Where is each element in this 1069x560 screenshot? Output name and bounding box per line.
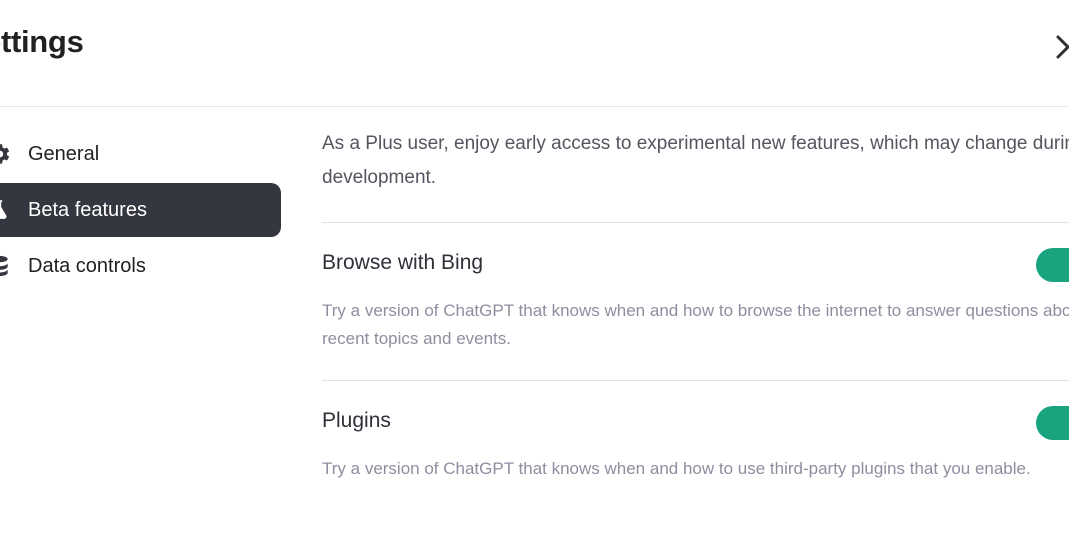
sidebar-item-label: General	[28, 143, 99, 166]
flask-icon	[0, 197, 12, 223]
feature-plugins: Plugins Try a version of ChatGPT that kn…	[322, 404, 1069, 483]
feature-title: Browse with Bing	[322, 246, 1069, 280]
modal-header: ettings	[0, 0, 1069, 107]
close-x-icon	[1045, 26, 1069, 68]
feature-title: Plugins	[322, 404, 1069, 438]
database-icon	[0, 253, 12, 279]
feature-description: Try a version of ChatGPT that knows when…	[322, 455, 1069, 483]
sidebar-item-label: Data controls	[28, 255, 146, 278]
close-button[interactable]	[1045, 26, 1069, 68]
settings-modal: ettings General	[0, 0, 1069, 560]
beta-features-panel: As a Plus user, enjoy early access to ex…	[322, 127, 1069, 483]
browse-with-bing-toggle[interactable]	[1036, 248, 1069, 282]
feature-browse-with-bing: Browse with Bing Try a version of ChatGP…	[322, 246, 1069, 353]
feature-description: Try a version of ChatGPT that knows when…	[322, 297, 1069, 353]
divider	[322, 380, 1069, 381]
intro-text: As a Plus user, enjoy early access to ex…	[322, 127, 1069, 195]
divider	[322, 222, 1069, 223]
sidebar: General Beta features Data controls	[0, 127, 300, 295]
sidebar-item-data-controls[interactable]: Data controls	[0, 239, 300, 293]
page-title: ettings	[0, 24, 84, 60]
gear-icon	[0, 141, 12, 167]
sidebar-item-beta-features[interactable]: Beta features	[0, 183, 281, 237]
sidebar-item-general[interactable]: General	[0, 127, 300, 181]
sidebar-item-label: Beta features	[28, 199, 147, 222]
plugins-toggle[interactable]	[1036, 406, 1069, 440]
